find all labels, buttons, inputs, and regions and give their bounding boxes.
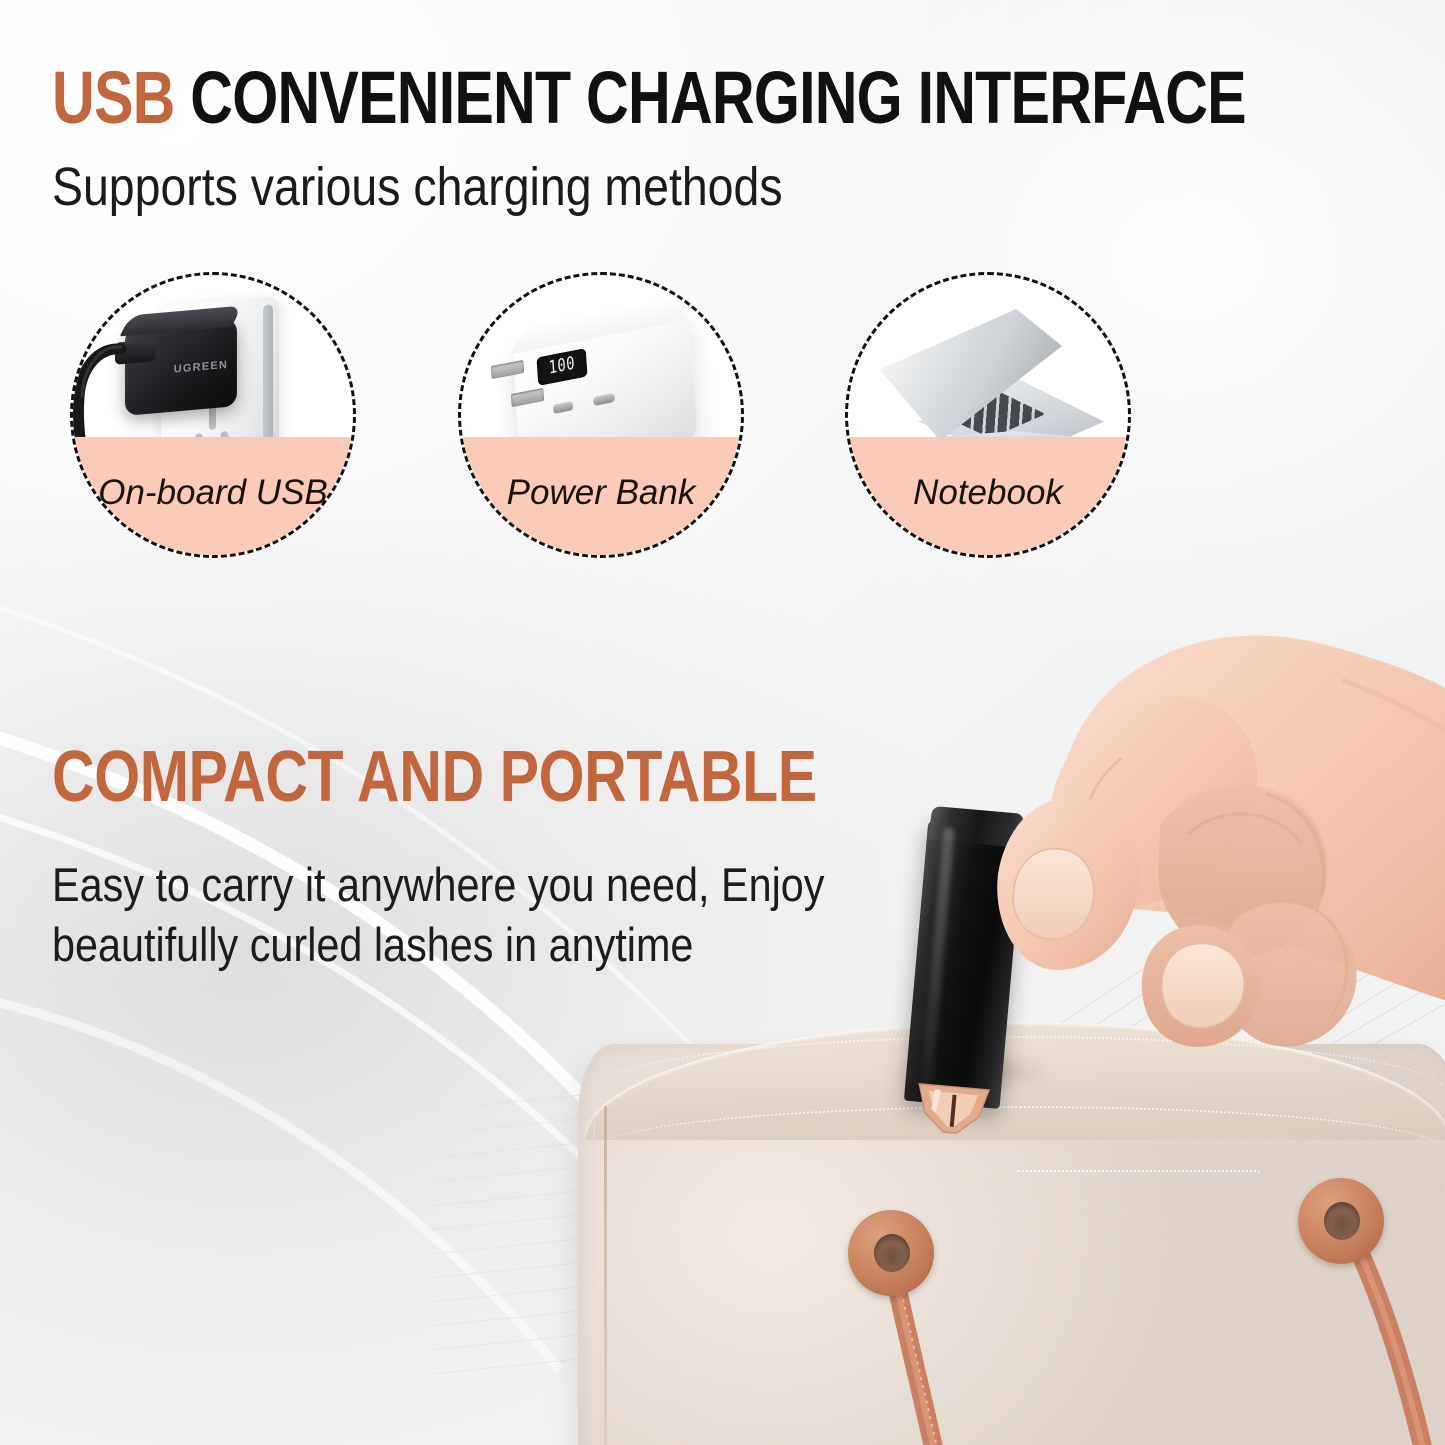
- charger-brand-text: UGREEN: [174, 359, 228, 376]
- handbag-grommet-left: [848, 1210, 934, 1296]
- badge-on-board-usb[interactable]: UGREEN On-board USB: [70, 272, 356, 558]
- badge-label-on-board-usb: On-board USB: [73, 473, 353, 513]
- power-bank-display-value: 100: [537, 351, 587, 381]
- lifestyle-photo: [0, 560, 1445, 1445]
- handbag-grommet-right: [1298, 1178, 1384, 1264]
- handbag-side-seam-highlight: [593, 1120, 595, 1445]
- hand: [830, 588, 1445, 1148]
- badge-power-bank[interactable]: 100 Power Bank: [458, 272, 744, 558]
- badge-notebook[interactable]: Notebook: [845, 272, 1131, 558]
- badge-label-power-bank: Power Bank: [461, 473, 741, 513]
- handbag-tab-stitching: [1015, 1170, 1260, 1194]
- badge-label-notebook: Notebook: [848, 473, 1128, 513]
- handbag-side-seam: [604, 1106, 607, 1445]
- product-infographic: USB CONVENIENT CHARGING INTERFACE Suppor…: [0, 0, 1445, 1445]
- charging-methods-list: UGREEN On-board USB 100: [0, 0, 1445, 600]
